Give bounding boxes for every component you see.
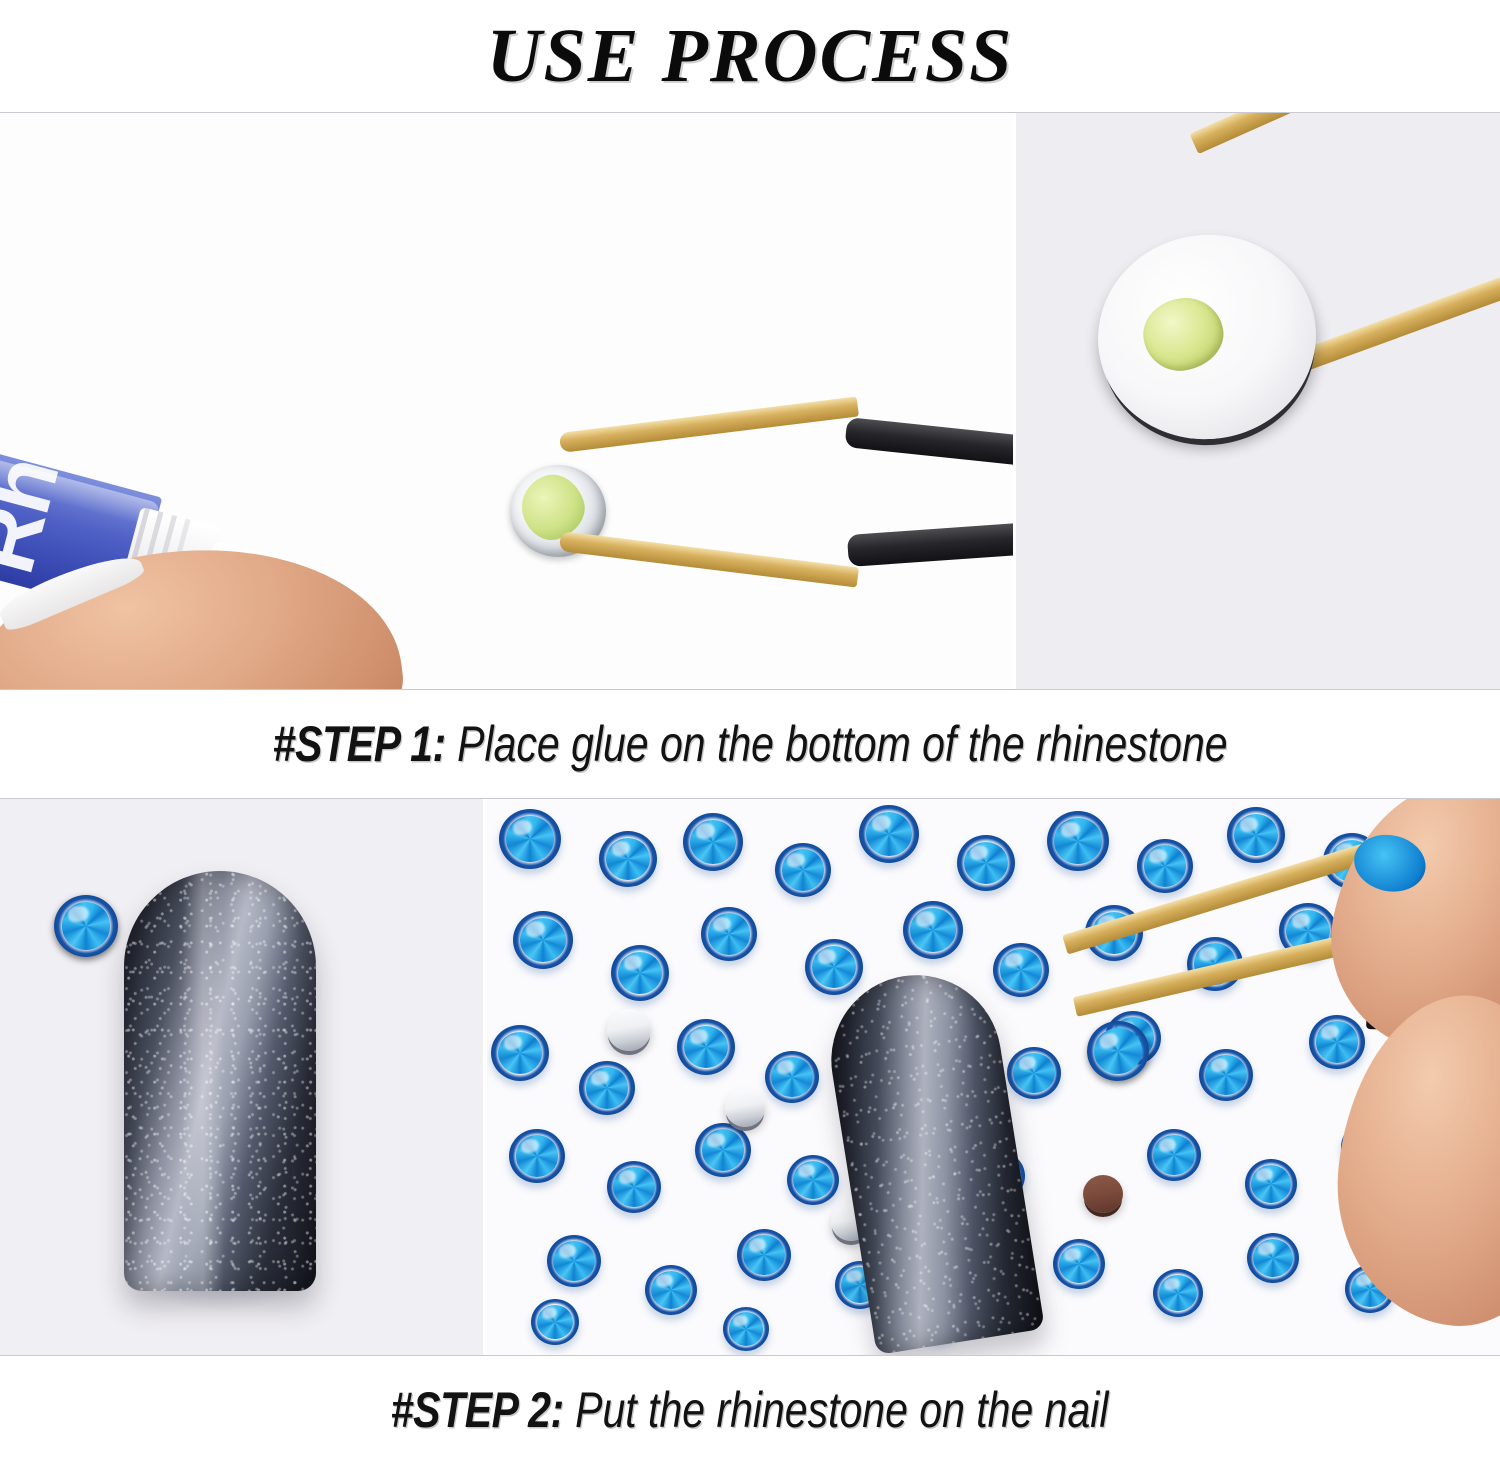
press-on-nail — [124, 871, 316, 1291]
rhinestone — [1083, 1175, 1123, 1213]
rhinestone — [1153, 1269, 1203, 1317]
step-2-text: Put the rhinestone on the nail — [575, 1382, 1108, 1438]
rhinestone — [509, 1129, 565, 1183]
rhinestone — [1053, 1239, 1105, 1289]
rhinestone — [599, 831, 657, 887]
tweezers — [560, 413, 1016, 583]
rhinestone — [677, 1019, 735, 1075]
page-title: USE PROCESS — [487, 13, 1014, 100]
rhinestone — [775, 843, 831, 897]
rhinestone — [737, 1229, 791, 1281]
rhinestone — [491, 1025, 549, 1081]
rhinestone — [993, 943, 1049, 997]
rhinestone — [1247, 1233, 1299, 1283]
rhinestone — [513, 911, 573, 969]
step-1-text: Place glue on the bottom of the rhinesto… — [457, 716, 1227, 772]
rhinestone — [787, 1155, 839, 1205]
tweezer-lower-black-grip — [847, 521, 1016, 567]
rhinestone-on-nail — [54, 895, 118, 957]
rhinestone — [859, 805, 919, 863]
rhinestone — [611, 945, 669, 1001]
tweezer-upper-black-grip — [844, 417, 1016, 468]
glue-applied-to-rhinestone-photo: G Rh — [0, 113, 1016, 689]
rhinestone — [683, 813, 743, 871]
rhinestone — [531, 1299, 579, 1345]
header: USE PROCESS — [0, 0, 1500, 112]
glue-droplet — [1139, 293, 1228, 375]
rhinestone — [579, 1061, 635, 1115]
step-2-label: #STEP 2: — [391, 1382, 564, 1438]
step-1-photo-row: G Rh — [0, 112, 1500, 690]
rhinestone — [547, 1235, 601, 1287]
step-1-caption: #STEP 1: Place glue on the bottom of the… — [0, 690, 1500, 798]
rhinestone — [903, 901, 963, 959]
rhinestone — [607, 1009, 651, 1051]
rhinestone — [723, 1307, 769, 1351]
rhinestone — [725, 1089, 765, 1127]
step-1-label: #STEP 1: — [273, 716, 446, 772]
rhinestone — [645, 1265, 697, 1315]
tweezer-lower-gold-tip — [559, 531, 859, 587]
rhinestone — [695, 1123, 751, 1177]
finished-nail-photo — [0, 799, 487, 1355]
tweezer-upper-gold-tip — [1190, 113, 1500, 154]
step-2-caption: #STEP 2: Put the rhinestone on the nail — [0, 1356, 1500, 1464]
rhinestone — [499, 809, 561, 869]
glue-label-letter-rh: Rh — [0, 447, 79, 583]
rhinestone — [957, 835, 1015, 891]
rhinestone — [1007, 1047, 1061, 1099]
rhinestone — [607, 1161, 661, 1213]
applying-rhinestone-photo — [487, 799, 1500, 1355]
tweezer-upper-gold-tip — [559, 397, 859, 453]
rhinestone — [701, 907, 757, 961]
rhinestone — [765, 1051, 819, 1103]
rhinestone-flat-back-photo — [1016, 113, 1500, 689]
step-2-photo-row — [0, 798, 1500, 1356]
